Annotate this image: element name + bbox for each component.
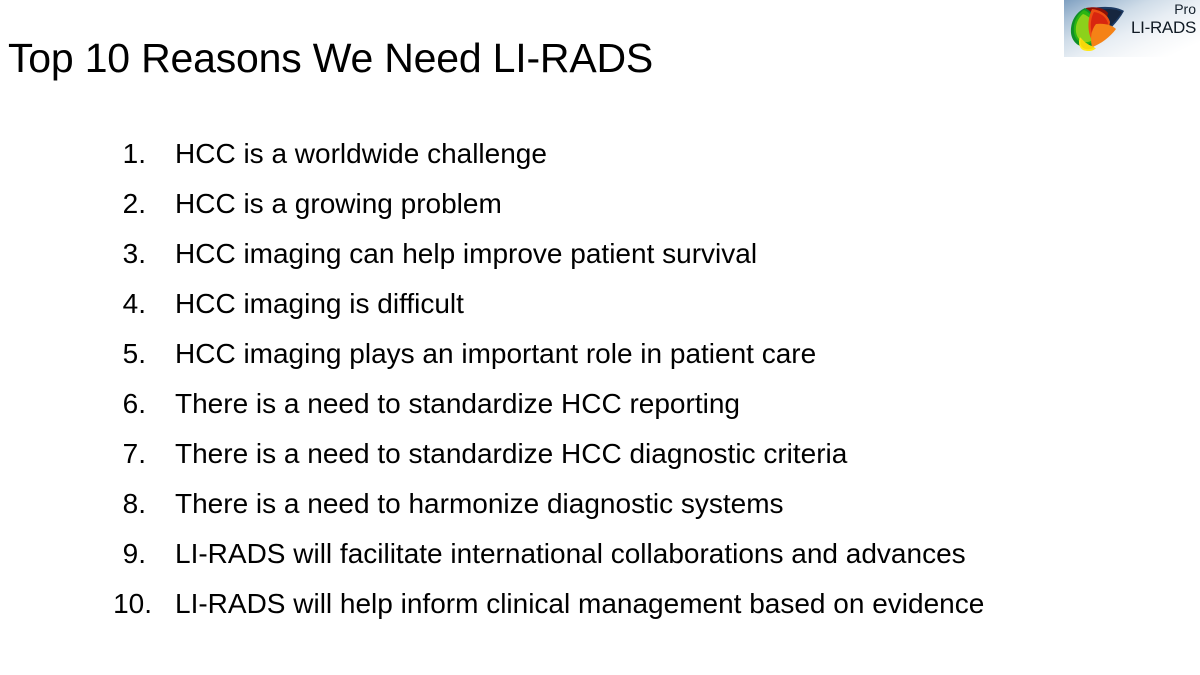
list-item-text: HCC imaging is difficult <box>146 279 1200 329</box>
list-item: 3. HCC imaging can help improve patient … <box>40 229 1200 279</box>
list-item: 4. HCC imaging is difficult <box>40 279 1200 329</box>
list-item: 10. LI-RADS will help inform clinical ma… <box>40 579 1200 629</box>
logo-wordmark: Pro LI-RADS <box>1131 2 1196 36</box>
list-item: 8. There is a need to harmonize diagnost… <box>40 479 1200 529</box>
list-item-number: 1. <box>40 129 146 179</box>
list-item-text: There is a need to harmonize diagnostic … <box>146 479 1200 529</box>
list-item-text: There is a need to standardize HCC diagn… <box>146 429 1200 479</box>
list-item-number: 8. <box>40 479 146 529</box>
list-item-text: HCC is a worldwide challenge <box>146 129 1200 179</box>
list-item-number: 7. <box>40 429 146 479</box>
list-item-text: HCC imaging can help improve patient sur… <box>146 229 1200 279</box>
list-item-text: HCC is a growing problem <box>146 179 1200 229</box>
list-item-text: HCC imaging plays an important role in p… <box>146 329 1200 379</box>
list-item: 5. HCC imaging plays an important role i… <box>40 329 1200 379</box>
logo-pro-label: Pro <box>1131 2 1196 16</box>
page-title: Top 10 Reasons We Need LI-RADS <box>8 36 653 82</box>
presentation-slide: Top 10 Reasons We Need LI-RADS Pro LI-RA… <box>0 0 1200 675</box>
lirads-logo: Pro LI-RADS <box>1064 0 1200 57</box>
logo-lirads-label: LI-RADS <box>1131 19 1196 36</box>
list-item-number: 6. <box>40 379 146 429</box>
list-item-number: 10. <box>40 579 152 629</box>
list-item-number: 5. <box>40 329 146 379</box>
list-item-text: There is a need to standardize HCC repor… <box>146 379 1200 429</box>
list-item: 9. LI-RADS will facilitate international… <box>40 529 1200 579</box>
list-item-number: 4. <box>40 279 146 329</box>
list-item-text: LI-RADS will help inform clinical manage… <box>152 579 1200 629</box>
list-item-number: 2. <box>40 179 146 229</box>
list-item-number: 3. <box>40 229 146 279</box>
list-item: 7. There is a need to standardize HCC di… <box>40 429 1200 479</box>
reasons-list: 1. HCC is a worldwide challenge 2. HCC i… <box>0 129 1200 629</box>
list-item-number: 9. <box>40 529 146 579</box>
list-item: 1. HCC is a worldwide challenge <box>40 129 1200 179</box>
lirads-liver-leaf-logo-icon <box>1068 4 1126 52</box>
list-item: 2. HCC is a growing problem <box>40 179 1200 229</box>
list-item-text: LI-RADS will facilitate international co… <box>146 529 1200 579</box>
list-item: 6. There is a need to standardize HCC re… <box>40 379 1200 429</box>
